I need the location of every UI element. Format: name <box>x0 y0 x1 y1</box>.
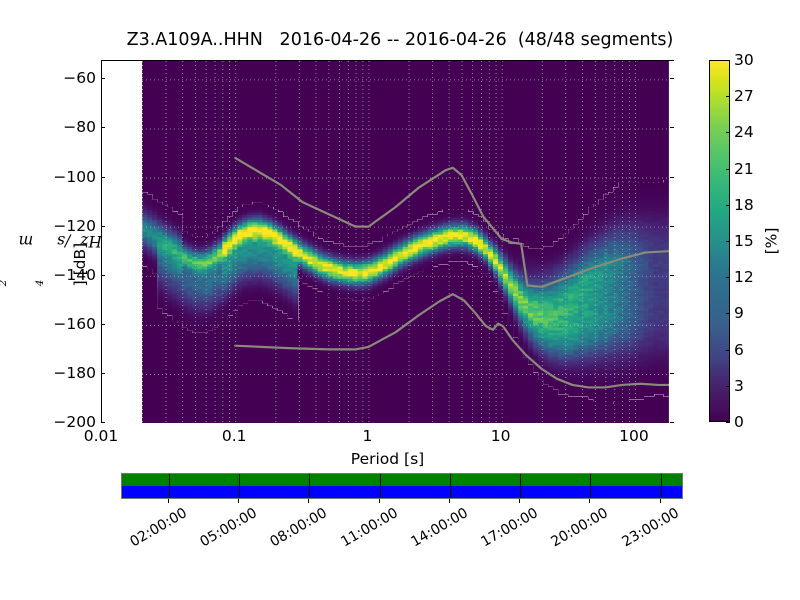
y-axis-tick-label: −60 <box>63 69 96 87</box>
x-axis-tick-label: 0.01 <box>84 427 119 445</box>
x-axis-tick-mark <box>501 418 502 423</box>
y-axis-tick-mark <box>670 373 674 374</box>
ppsd-histogram-canvas <box>102 61 675 423</box>
colorbar-tick-mark <box>726 205 730 206</box>
y-axis-tick-mark <box>670 226 674 227</box>
page-title: Z3.A109A..HHN 2016-04-26 -- 2016-04-26 (… <box>0 30 800 50</box>
y-axis-tick-mark <box>670 422 674 423</box>
colorbar-tick-label: 9 <box>734 304 744 322</box>
time-axis-tick-mark <box>589 499 590 503</box>
x-axis-tick-mark <box>501 60 502 65</box>
coverage-segment-divider <box>380 474 381 498</box>
time-axis-tick-label: 08:00:00 <box>268 505 330 550</box>
colorbar-tick-label: 27 <box>734 87 754 105</box>
colorbar-tick-mark <box>726 241 730 242</box>
y-axis-label: Amplitude [m2/s4/Hz] [dB] <box>14 60 36 422</box>
coverage-segment-divider <box>661 474 662 498</box>
y-axis-tick-label: −140 <box>53 266 96 284</box>
colorbar-tick-mark <box>726 350 730 351</box>
x-axis-label: Period [s] <box>0 450 775 468</box>
x-axis-tick-label: 100 <box>619 427 649 445</box>
time-axis-tick-mark <box>308 499 309 503</box>
coverage-row-blue <box>122 486 682 498</box>
coverage-row-green <box>122 474 682 486</box>
y-axis-tick-label: −160 <box>53 315 96 333</box>
time-axis-tick-mark <box>168 499 169 503</box>
y-axis-tick-mark <box>101 78 105 79</box>
x-axis-tick-mark <box>101 418 102 423</box>
time-axis-tick-label: 23:00:00 <box>619 505 681 550</box>
x-axis-tick-mark <box>367 60 368 65</box>
colorbar-tick-mark <box>726 277 730 278</box>
x-axis-tick-mark <box>634 418 635 423</box>
y-axis-tick-mark <box>101 226 105 227</box>
x-axis-tick-label: 1 <box>363 427 373 445</box>
time-axis-tick-label: 05:00:00 <box>198 505 260 550</box>
x-axis-tick-mark <box>234 60 235 65</box>
x-axis-tick-mark <box>101 60 102 65</box>
y-axis-tick-label: −180 <box>53 364 96 382</box>
colorbar-tick-label: 15 <box>734 232 754 250</box>
y-axis-tick-mark <box>670 324 674 325</box>
y-axis-tick-mark <box>670 127 674 128</box>
time-axis-tick-mark <box>519 499 520 503</box>
time-axis-tick-label: 02:00:00 <box>127 505 189 550</box>
data-coverage-bar[interactable] <box>121 473 683 499</box>
x-axis-tick-label: 10 <box>491 427 511 445</box>
colorbar-tick-label: 0 <box>734 413 744 431</box>
colorbar-tick-label: 18 <box>734 196 754 214</box>
colorbar-tick-mark <box>726 60 730 61</box>
colorbar-tick-label: 30 <box>734 51 754 69</box>
colorbar-tick-mark <box>726 313 730 314</box>
time-axis-tick-label: 20:00:00 <box>549 505 611 550</box>
coverage-segment-divider <box>590 474 591 498</box>
colorbar-unit-label: [%] <box>760 60 782 422</box>
colorbar-tick-mark <box>726 132 730 133</box>
colorbar-tick-label: 3 <box>734 377 744 395</box>
x-axis-tick-mark <box>234 418 235 423</box>
y-axis-tick-mark <box>670 177 674 178</box>
y-axis-tick-mark <box>101 324 105 325</box>
coverage-segment-divider <box>309 474 310 498</box>
x-axis-tick-label: 0.1 <box>222 427 247 445</box>
time-axis-tick-mark <box>379 499 380 503</box>
coverage-segment-divider <box>450 474 451 498</box>
colorbar-tick-mark <box>726 422 730 423</box>
time-axis-tick-label: 11:00:00 <box>338 505 400 550</box>
colorbar-tick-label: 24 <box>734 123 754 141</box>
ppsd-plot-area <box>101 60 674 422</box>
y-axis-tick-label: −80 <box>63 118 96 136</box>
y-axis-tick-mark <box>101 127 105 128</box>
coverage-segment-divider <box>169 474 170 498</box>
colorbar-tick-mark <box>726 169 730 170</box>
colorbar-tick-mark <box>726 386 730 387</box>
time-axis-tick-mark <box>238 499 239 503</box>
y-axis-tick-mark <box>670 275 674 276</box>
colorbar-tick-label: 6 <box>734 341 744 359</box>
time-axis-tick-label: 17:00:00 <box>479 505 541 550</box>
coverage-segment-divider <box>520 474 521 498</box>
y-axis-tick-label: −120 <box>53 217 96 235</box>
x-axis-tick-mark <box>634 60 635 65</box>
y-axis-tick-mark <box>101 275 105 276</box>
colorbar-tick-mark <box>726 96 730 97</box>
y-axis-tick-mark <box>101 373 105 374</box>
time-axis-tick-label: 14:00:00 <box>408 505 470 550</box>
coverage-segment-divider <box>239 474 240 498</box>
x-axis-tick-mark <box>367 418 368 423</box>
y-axis-tick-mark <box>101 177 105 178</box>
y-axis-tick-label: −100 <box>53 168 96 186</box>
colorbar-tick-label: 12 <box>734 268 754 286</box>
time-axis-tick-mark <box>660 499 661 503</box>
y-axis-tick-mark <box>670 78 674 79</box>
time-axis-tick-mark <box>449 499 450 503</box>
colorbar-tick-label: 21 <box>734 160 754 178</box>
